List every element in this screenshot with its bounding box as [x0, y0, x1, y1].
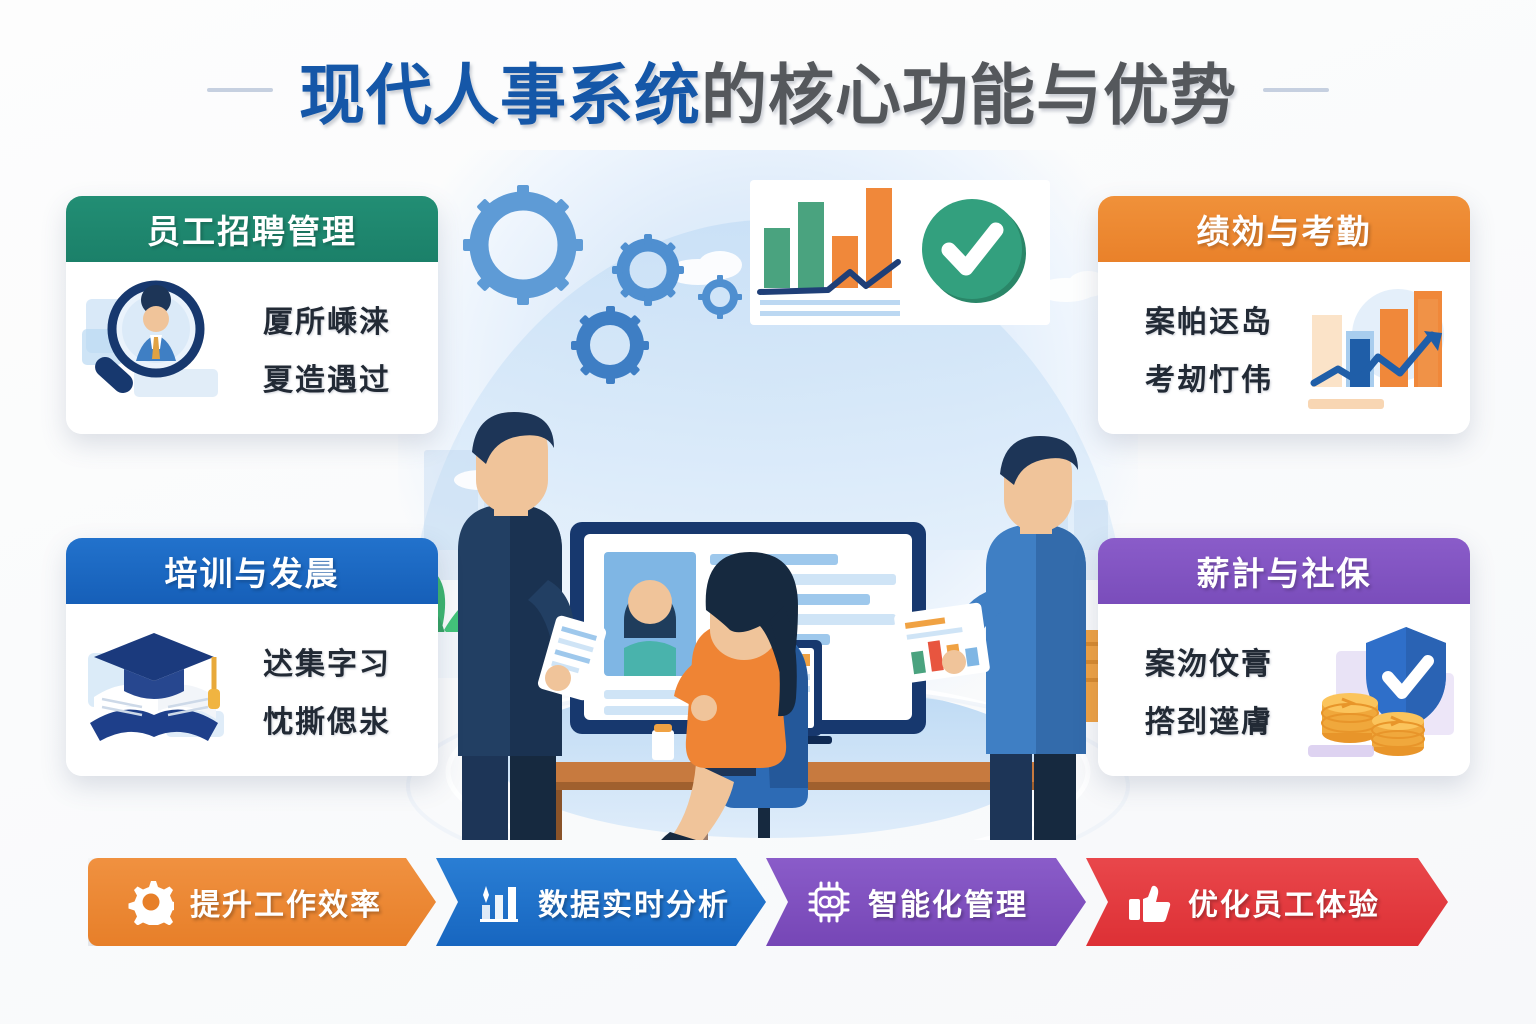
- coin-stack-back: [1322, 693, 1378, 743]
- magnifier-person-icon: [80, 273, 230, 423]
- pill-analytics[interactable]: 数据实时分析: [436, 858, 766, 946]
- title-rule-left: [207, 88, 273, 92]
- card-body: 案帕迗岛 考刼忊伟: [1098, 262, 1470, 434]
- card-body: 厦所嵊涞 夏造遇过: [66, 262, 438, 434]
- pill-intelligence[interactable]: 智能化管理: [766, 858, 1086, 946]
- card-line-1: 案帕迗岛: [1112, 297, 1306, 341]
- pill-experience[interactable]: 优化员工体验: [1086, 858, 1448, 946]
- floating-dashboard-panel: [750, 180, 1050, 325]
- page-title: 现代人事系统的核心功能与优势: [0, 44, 1536, 136]
- title-text: 现代人事系统的核心功能与优势: [299, 42, 1237, 138]
- hr-office-team-illustration: [398, 150, 1138, 840]
- card-line-2: 夏造遇过: [230, 355, 424, 399]
- gear-icon: [128, 879, 174, 925]
- pill-label: 提升工作效率: [190, 880, 382, 924]
- chart-sheet-prop: [894, 602, 991, 684]
- card-header: 培训与发晨: [66, 538, 438, 604]
- card-header: 绩効与考勤: [1098, 196, 1470, 262]
- card-header: 薪計与社保: [1098, 538, 1470, 604]
- card-line-2: 撘刭遳膚: [1112, 697, 1306, 741]
- card-text-lines: 迖集字习 忱撕偲汖: [230, 639, 424, 741]
- card-header-label: 薪計与社保: [1197, 547, 1372, 595]
- card-text-lines: 案帕迗岛 考刼忊伟: [1112, 297, 1306, 399]
- mug-prop: [652, 730, 674, 760]
- card-line-1: 案沕伩膏: [1112, 639, 1306, 683]
- bar-chart-trend-icon: [1306, 273, 1456, 423]
- card-text-lines: 案沕伩膏 撘刭遳膚: [1112, 639, 1306, 741]
- card-header: 员工招聘管理: [66, 196, 438, 262]
- pill-label: 智能化管理: [868, 880, 1028, 924]
- card-employee-recruitment[interactable]: 员工招聘管理 厦所嵊涞 夏造: [66, 196, 438, 434]
- card-body: 案沕伩膏 撘刭遳膚: [1098, 604, 1470, 776]
- card-header-label: 员工招聘管理: [147, 205, 357, 253]
- card-line-2: 忱撕偲汖: [230, 697, 424, 741]
- title-rest: 的核心功能与优势: [701, 58, 1237, 132]
- title-rule-right: [1263, 88, 1329, 92]
- card-line-2: 考刼忊伟: [1112, 355, 1306, 399]
- card-body: 迖集字习 忱撕偲汖: [66, 604, 438, 776]
- benefits-pill-bar: 提升工作效率 数据实时分析: [88, 858, 1448, 946]
- card-salary-benefits[interactable]: 薪計与社保: [1098, 538, 1470, 776]
- illustration-svg: [398, 150, 1138, 840]
- profile-photo: [624, 580, 676, 676]
- coins-shield-icon: [1306, 615, 1456, 765]
- card-line-1: 厦所嵊涞: [230, 297, 424, 341]
- title-highlight: 现代人事系统: [299, 58, 701, 132]
- cpu-chip-icon: [806, 879, 852, 925]
- thumbs-up-icon: [1126, 879, 1172, 925]
- coin-stack-front: [1372, 712, 1424, 756]
- bar-chart-icon: [476, 879, 522, 925]
- card-training-development[interactable]: 培训与发晨: [66, 538, 438, 776]
- card-header-label: 培训与发晨: [165, 547, 340, 595]
- card-line-1: 迖集字习: [230, 639, 424, 683]
- card-text-lines: 厦所嵊涞 夏造遇过: [230, 297, 424, 399]
- graduation-book-icon: [80, 615, 230, 765]
- infographic-canvas: 现代人事系统的核心功能与优势: [0, 0, 1536, 1024]
- pill-efficiency[interactable]: 提升工作效率: [88, 858, 436, 946]
- pill-label: 数据实时分析: [538, 880, 730, 924]
- card-performance-attendance[interactable]: 绩効与考勤 案帕迗岛 考刼忊伟: [1098, 196, 1470, 434]
- card-header-label: 绩効与考勤: [1197, 205, 1372, 253]
- pill-label: 优化员工体验: [1188, 880, 1380, 924]
